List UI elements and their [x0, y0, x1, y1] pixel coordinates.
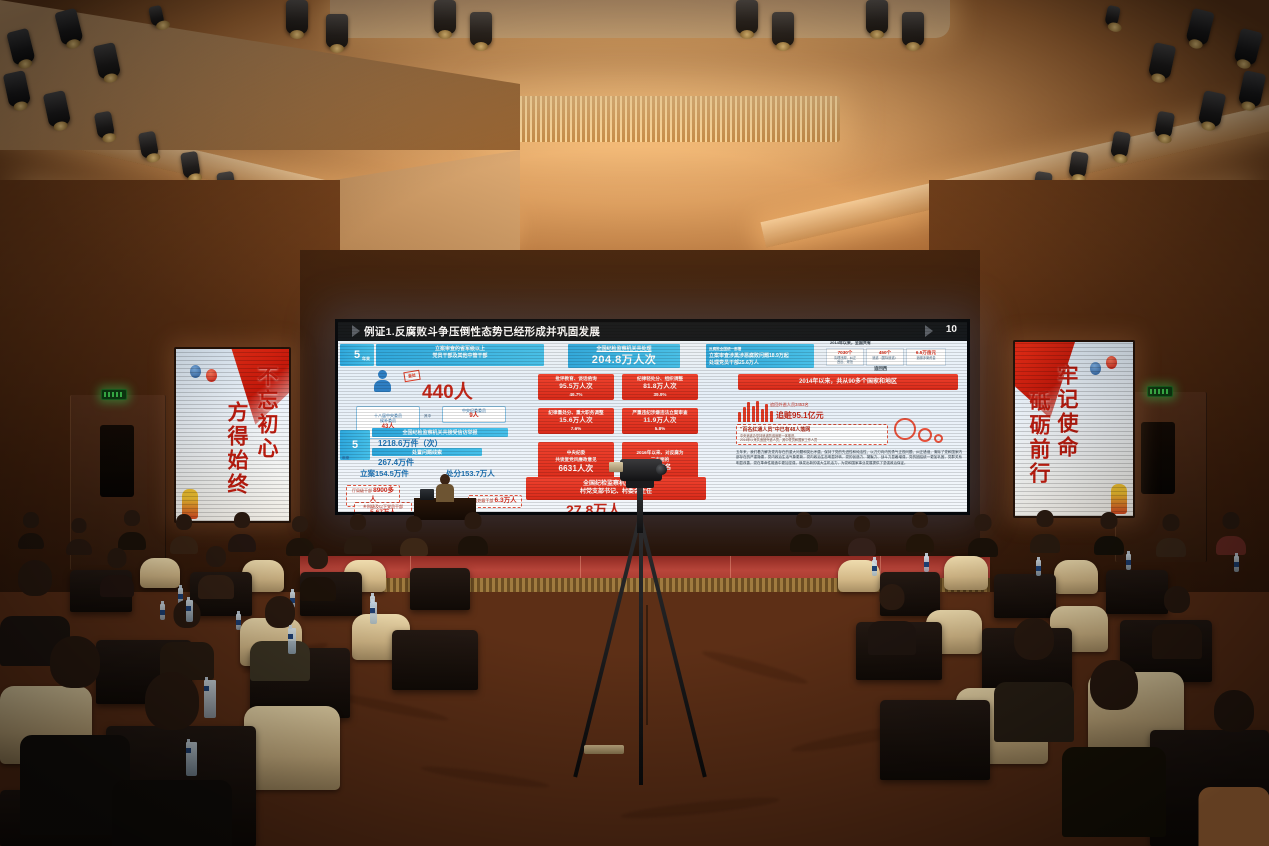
slide-page-number: 10	[946, 324, 957, 335]
right-cyan-line2: 处理党员干部25.6万人	[709, 360, 811, 367]
audience-person	[1062, 660, 1166, 800]
stage-light	[736, 0, 758, 34]
left-years-unit: 年来	[362, 356, 370, 362]
lantern-icon	[1106, 356, 1117, 369]
stage-light	[286, 0, 308, 34]
left-header-text: 立案审查的省军级以上 党员干部及其他中管干部	[376, 344, 544, 366]
person-head	[234, 512, 250, 528]
led-banner-right: 牢记使命 砥砺前行	[1013, 340, 1135, 518]
right-topbox-cell-1: 7030个 清理违规、纠正 违反、规范	[826, 348, 864, 366]
tripod-leg	[639, 523, 643, 785]
left-foot-chip-2-value: 6.3万人	[495, 497, 517, 504]
water-bottle	[186, 742, 197, 776]
ceiling-cove-center	[330, 0, 950, 38]
left-foot-chip-2-label: 县处级干部	[473, 498, 493, 503]
person-head	[124, 510, 140, 526]
audience-person	[66, 518, 92, 552]
right-cyan-label: 反腐败全国统一部署	[709, 347, 741, 351]
person-head	[1163, 514, 1180, 531]
page-title: 例证1.反腐败斗争压倒性态势已经形成并巩固发展	[364, 324, 600, 339]
presenter-laptop	[420, 489, 434, 500]
person-head	[72, 518, 87, 533]
center-stat-box-1: 批评教育、谈话函询 95.5万人次 46.7%	[538, 374, 614, 400]
led-banner-left: 不忘初心 方得始终	[174, 347, 291, 523]
bar-chart-icon	[738, 400, 773, 422]
person-body	[1094, 536, 1124, 555]
right-topbox-header: 2014年以来，全国共有	[830, 340, 871, 346]
right-stat-2: 追赃95.1亿元	[776, 410, 824, 421]
banner-left-line2: 方得始终	[221, 401, 251, 497]
audience-person	[400, 516, 428, 552]
person-body	[66, 539, 92, 555]
person-head	[1014, 618, 1054, 660]
water-bottle	[288, 628, 296, 654]
center-stat-box-3: 纪律重处分、重大职务调整 15.6万人次 7.6%	[538, 408, 614, 434]
right-red-banner: 2014年以来，共从90多个国家和地区	[738, 374, 958, 390]
left-foot-chip-1-label: 厅局级干部	[352, 488, 372, 493]
person-head	[206, 546, 226, 567]
banner-right-line1: 牢记使命	[1051, 364, 1081, 460]
chair	[1054, 560, 1098, 594]
person-head	[292, 516, 308, 532]
person-head	[975, 514, 992, 531]
chandelier-center	[490, 96, 840, 142]
audience-person	[100, 548, 134, 592]
mascot-figure	[1111, 484, 1127, 514]
center-stat-1-value: 95.5万人次	[539, 382, 613, 391]
lantern-icon	[206, 369, 217, 382]
center-stat-2-label: 纪律轻处分、组织调整	[637, 376, 683, 381]
center-stat-4-label: 严重违纪涉嫌违法立案审查	[632, 410, 687, 415]
person-head	[50, 636, 100, 688]
banquet-table	[410, 568, 470, 610]
audience-person	[1030, 510, 1060, 548]
audience-person	[250, 596, 310, 668]
speaker-stack-right	[1141, 422, 1175, 494]
audience-person	[848, 516, 876, 552]
center-stat-4-value: 11.9万人次	[623, 416, 697, 425]
right-cyan-line1: 立案审查涉黑涉恶腐败问题18.9万起	[709, 353, 811, 360]
person-head	[1090, 660, 1138, 710]
stamp-label: 查处	[403, 370, 420, 382]
audience-person	[286, 516, 314, 552]
audience-person	[1094, 512, 1124, 550]
person-head	[1214, 690, 1254, 732]
tripod-column	[637, 485, 643, 533]
person-body	[848, 538, 876, 556]
audience-person	[1216, 512, 1246, 550]
slide-title-wrap: 例证1.反腐败斗争压倒性态势已经形成并巩固发展	[364, 322, 600, 341]
right-topbox-foot: 追回西	[874, 366, 887, 372]
right-red-note-sub: 中央追逃办坚持追逃防逃追赃一体推进， 2014年以来共追回外逃人员，其中党员和国…	[740, 434, 884, 443]
water-bottle	[872, 560, 877, 576]
center-stat-2-value: 81.8万人次	[623, 382, 697, 391]
water-bottle	[924, 556, 929, 572]
left-chip-2: 中央纪委委员 9人	[442, 406, 506, 423]
right-red-note: "百名红通人员"中已有48人落网 中央追逃办坚持追逃防逃追赃一体推进， 2014…	[736, 424, 888, 445]
ring-graphic	[918, 428, 932, 442]
person-icon	[374, 370, 391, 392]
person-head	[265, 596, 295, 628]
ring-graphic	[934, 434, 943, 443]
stage-light	[470, 12, 492, 46]
center-stat-3-label: 纪律重处分、重大职务调整	[548, 410, 603, 415]
person-body	[198, 575, 234, 599]
person-body	[1198, 787, 1269, 846]
audience-person	[300, 548, 336, 594]
person-head	[912, 512, 928, 528]
center-stat-box-4: 严重违纪涉嫌违法立案审查 11.9万人次 5.8%	[622, 408, 698, 434]
person-body	[100, 575, 134, 597]
audience-person	[868, 584, 916, 644]
person-head	[308, 548, 328, 569]
banner-left-line1: 不忘初心	[251, 365, 281, 461]
presenter-person	[436, 474, 454, 502]
audience-person	[228, 512, 256, 548]
left-block2-value2: 267.4万件	[378, 457, 414, 468]
left-block2-value3: 立案154.5万件	[360, 468, 409, 479]
person-head	[854, 516, 870, 532]
stage-light	[866, 0, 888, 34]
audience-person	[1152, 586, 1202, 648]
person-body	[1030, 534, 1060, 553]
person-head	[1101, 512, 1118, 529]
right-stat-1: 追回外逃人员3453名	[770, 402, 809, 408]
audience-person	[344, 514, 372, 550]
person-head	[1223, 512, 1240, 529]
right-red-note-title: "百名红通人员"中已有48人落网	[740, 427, 810, 433]
audience-person	[458, 512, 488, 550]
carpet-pattern	[420, 763, 550, 791]
camera-lens-icon	[656, 464, 667, 475]
center-header: 全国纪检监察机关共处理 204.8万人次	[568, 344, 680, 368]
center-header-line1: 全国纪检监察机关共处理	[596, 346, 651, 352]
water-bottle	[186, 600, 193, 622]
person-body	[400, 538, 428, 556]
speaker-stack-left	[100, 425, 134, 497]
person-head	[176, 514, 192, 530]
person-head	[108, 548, 127, 568]
person-body	[1152, 624, 1202, 659]
banquet-table	[880, 700, 990, 780]
center-stat-3-pct: 7.6%	[571, 426, 581, 431]
audience-person	[170, 514, 198, 550]
water-bottle	[1234, 556, 1239, 572]
person-body	[374, 380, 391, 392]
left-foot-chip-2: 县处级干部 6.3万人	[468, 495, 522, 508]
person-head	[1037, 510, 1054, 527]
center-stat-1-pct: 46.7%	[569, 392, 582, 397]
audience-person	[906, 512, 934, 548]
person-body	[250, 641, 310, 681]
chair	[244, 706, 340, 790]
exit-sign-icon	[101, 389, 127, 400]
center-stat-2-pct: 39.9%	[653, 392, 666, 397]
person-body	[112, 780, 232, 846]
banner-right-line2: 砥砺前行	[1023, 390, 1053, 486]
exit-sign-icon	[1147, 386, 1173, 397]
right-topbox-cell-2: 450个 追逃（国际追逃）	[866, 348, 904, 366]
video-camera	[620, 459, 662, 481]
chevron-right-icon	[925, 325, 933, 337]
person-body	[344, 536, 372, 554]
stage-light	[1104, 5, 1121, 27]
audience-person	[968, 514, 998, 552]
water-bottle	[204, 680, 216, 718]
person-head	[1164, 586, 1190, 613]
left-block2-label2: 处置问题线索	[372, 448, 482, 456]
person-head	[406, 516, 422, 532]
person-body	[790, 534, 818, 552]
person-body	[1062, 747, 1166, 837]
right-cyan-box: 反腐败全国统一部署 立案审查涉黑涉恶腐败问题18.9万起 处理党员干部25.6万…	[706, 344, 814, 368]
left-foot-chip-1-value: 8900多人	[370, 487, 394, 503]
person-head	[378, 370, 387, 379]
lantern-icon	[1090, 362, 1101, 375]
right-topbox-cell-1-label: 清理违规、纠正 违反、规范	[834, 356, 856, 364]
audience-person	[18, 512, 44, 546]
audience-person	[118, 510, 146, 546]
person-head	[796, 512, 812, 528]
stage-light	[434, 0, 456, 34]
person-body	[906, 534, 934, 552]
left-block2-header: 全国纪检监察机关共接受信访举报	[372, 428, 508, 437]
person-body	[1216, 536, 1246, 555]
carpet-pattern	[620, 794, 780, 823]
person-body	[18, 533, 44, 549]
person-body	[968, 538, 998, 557]
tripod-leg	[573, 517, 642, 778]
person-body	[1156, 538, 1186, 557]
stage-light	[326, 14, 348, 48]
presenter-torso	[436, 484, 454, 502]
camera-cable	[646, 605, 648, 725]
person-body	[458, 536, 488, 555]
person-head	[350, 514, 366, 530]
center-stat-1-label: 批评教育、谈话函询	[555, 376, 596, 381]
person-head	[465, 512, 482, 529]
banquet-table	[392, 630, 478, 690]
center-header-line2: 204.8万人次	[571, 353, 677, 368]
camera-tripod	[560, 455, 720, 785]
person-body	[170, 536, 198, 554]
left-chip-1-label: 十八届中央委员 候补委员	[374, 413, 402, 423]
tripod-leg	[638, 517, 707, 778]
left-foot-chip-3: 乡科级及以下党员干部 5.67万人	[354, 502, 412, 512]
right-topbox-cell-3: 6.5万亩元 追缴涉案资金	[906, 348, 946, 366]
left-years-badge: 5	[340, 344, 374, 366]
lantern-icon	[190, 365, 201, 378]
center-stat-4-pct: 5.8%	[655, 426, 665, 431]
person-head	[23, 512, 39, 528]
chair	[944, 556, 988, 590]
right-topbox-cell-3-label: 追缴涉案资金	[916, 356, 935, 360]
left-block2-unit: 年来	[342, 456, 349, 461]
left-chip-2-value: 9人	[444, 413, 504, 421]
ring-graphic	[894, 418, 916, 440]
audience-person	[198, 546, 234, 592]
left-big-number: 440人	[422, 377, 473, 404]
stage-light	[772, 12, 794, 46]
audience-person	[1156, 514, 1186, 552]
banquet-table	[994, 574, 1056, 618]
equipment-case	[584, 745, 624, 754]
water-bottle	[370, 602, 377, 624]
audience-person	[790, 512, 818, 548]
left-foot-chip-3-value: 5.67万人	[370, 509, 396, 512]
person-body	[868, 621, 916, 655]
center-stat-3-value: 15.6万人次	[539, 416, 613, 425]
right-paragraph: 五年来，我们着力解决党内存在的重大问题和突出矛盾，保持了党的先进性和纯洁性，以刀…	[736, 450, 962, 466]
center-stat-box-2: 纪律轻处分、组织调整 81.8万人次 39.9%	[622, 374, 698, 400]
left-chip-mid: 其中	[424, 414, 431, 419]
person-head	[145, 672, 199, 730]
person-head	[880, 584, 905, 610]
conference-hall-photo: 不忘初心 方得始终 牢记使命 砥砺前行 例证1.反腐败斗争压倒性态势已经形成并巩…	[0, 0, 1269, 846]
water-bottle	[1036, 560, 1041, 576]
chair	[140, 558, 180, 588]
audience-person	[1198, 690, 1269, 846]
person-head	[18, 560, 52, 596]
chevron-right-icon	[352, 325, 360, 337]
water-bottle	[1126, 554, 1131, 570]
right-topbox-table: 7030个 清理违规、纠正 违反、规范 450个 追逃（国际追逃） 6.5万亩元…	[826, 348, 946, 366]
camera-screen	[609, 462, 623, 472]
stage-light	[902, 12, 924, 46]
right-topbox-cell-2-label: 追逃（国际追逃）	[872, 356, 898, 360]
